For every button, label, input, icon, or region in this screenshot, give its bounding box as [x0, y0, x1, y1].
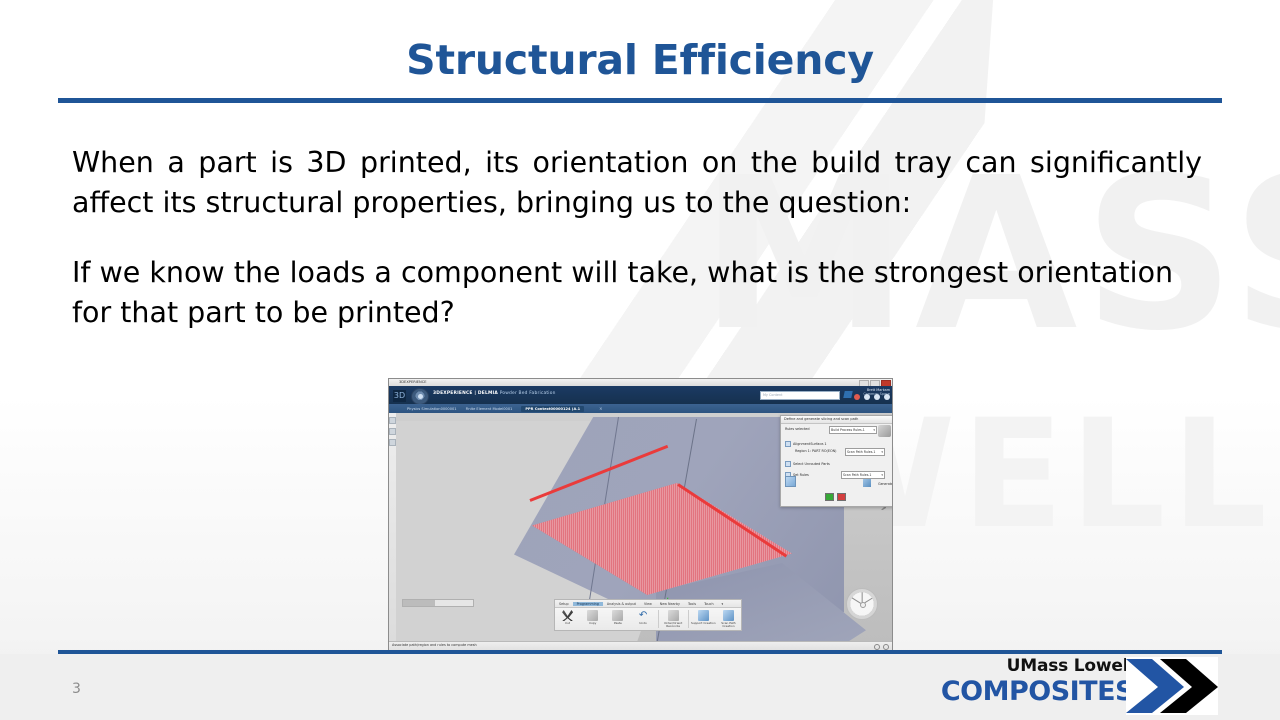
dialog-value-build-process-rules: Build Process Rules.1 — [831, 428, 865, 432]
umass-lowell-chevron-logo — [1126, 657, 1218, 715]
cad-action-dock[interactable]: Setup Programming Analysis & output View… — [554, 599, 742, 631]
slicing-scan-path-dialog[interactable]: Define and generate slicing and scan pat… — [780, 415, 892, 507]
dialog-label-rules-selected: Rules selected — [785, 427, 810, 431]
cad-dock-tools[interactable]: Cut Copy Paste ↶ Undo — [555, 608, 741, 633]
copy-icon — [587, 610, 598, 621]
generate-icon[interactable] — [863, 479, 871, 487]
cad-search-placeholder: My Content — [763, 393, 783, 397]
tool-copy[interactable]: Copy — [580, 610, 605, 625]
page-number: 3 — [72, 681, 81, 697]
dock-tab-analysis-output[interactable]: Analysis & output — [603, 602, 640, 606]
footer-divider — [58, 650, 1222, 654]
undo-icon: ↶ — [638, 610, 649, 621]
tool-support-label: Support Creation — [691, 622, 716, 625]
cad-tab-close-icon[interactable]: × — [599, 406, 602, 411]
cad-brand-app: DELMIA — [478, 391, 498, 396]
dialog-row-rules-selected: Rules selected — [785, 427, 810, 431]
cad-app-icons[interactable] — [854, 394, 890, 400]
cad-brand-sep: | — [474, 391, 476, 396]
tool-paste-label: Paste — [605, 622, 630, 625]
cad-brand-3dx: 3DEXPERIENCE — [433, 391, 473, 396]
dialog-label-region: Region 1: PART RO(EON) — [795, 449, 836, 453]
title-divider — [58, 98, 1222, 103]
cad-status-zoom-controls[interactable] — [874, 644, 889, 650]
embedded-cad-screenshot: 3DEXPERIENCE 3D 3DEXPERIENCE | DELMIA Po… — [388, 378, 893, 652]
compass-icon[interactable] — [411, 388, 429, 405]
plus-icon[interactable] — [864, 394, 870, 400]
tree-tool-icon[interactable] — [389, 417, 396, 424]
dialog-title: Define and generate slicing and scan pat… — [784, 417, 858, 421]
dock-tab-view[interactable]: View — [640, 602, 656, 606]
tool-cut-label: Cut — [555, 622, 580, 625]
alignment-surface-icon[interactable] — [785, 441, 791, 447]
support-icon — [698, 610, 709, 621]
slide-canvas: MASS WELL Structural Efficiency When a p… — [0, 0, 1280, 720]
dialog-select-set-rules[interactable]: Scan Path Rules.1 — [841, 471, 885, 479]
cad-tab-ppr-context[interactable]: PPR Context00000124 (A.1 — [521, 406, 584, 412]
dock-tab-tools[interactable]: Tools — [684, 602, 700, 606]
dock-separator — [658, 610, 659, 628]
dock-tab-programming[interactable]: Programming — [573, 602, 603, 606]
tool-support-creation[interactable]: Support Creation — [691, 610, 716, 625]
dock-separator — [688, 610, 689, 628]
zoom-out-icon[interactable] — [874, 644, 880, 650]
dock-tab-new-nearby[interactable]: New Nearby — [656, 602, 684, 606]
cad-tab-physics-simulation[interactable]: Physics Simulation0000001 — [407, 407, 457, 411]
orient-icon — [668, 610, 679, 621]
cad-app-bar: 3D 3DEXPERIENCE | DELMIA Powder Bed Fabr… — [389, 386, 892, 404]
slide-body: When a part is 3D printed, its orientati… — [72, 143, 1202, 333]
tool-paste[interactable]: Paste — [605, 610, 630, 625]
body-paragraph-2: If we know the loads a component will ta… — [72, 253, 1202, 333]
dialog-select-build-process-rules[interactable]: Build Process Rules.1 — [829, 426, 877, 434]
zoom-in-icon[interactable] — [883, 644, 889, 650]
dialog-ok-button[interactable] — [825, 493, 834, 501]
cad-workspace: PPR Context00000124 A.1 Manufacturing Ce… — [389, 413, 892, 642]
dialog-label-alignment-surface: AlignmentSurface.1 — [793, 442, 827, 446]
cad-tab-finite-element-model[interactable]: Finite Element Model0001 — [466, 407, 513, 411]
alert-badge-icon[interactable] — [854, 394, 860, 400]
dialog-preview-icon[interactable] — [878, 425, 891, 437]
tool-undo-label: Undo — [630, 622, 655, 625]
cad-document-tabs[interactable]: Physics Simulation0000001 Finite Element… — [389, 404, 892, 413]
dock-overflow-chevron-down-icon[interactable]: ▾ — [718, 602, 728, 606]
cad-os-title: 3DEXPERIENCE — [399, 380, 427, 384]
tool-cut[interactable]: Cut — [555, 610, 580, 625]
dialog-value-set-rules: Scan Path Rules.1 — [843, 473, 871, 477]
cad-brand-label: 3DEXPERIENCE | DELMIA Powder Bed Fabrica… — [433, 391, 556, 396]
cad-status-message: Associate path/region and rules to compu… — [392, 643, 477, 647]
footer-org-line1: UMass Lowell — [941, 655, 1134, 677]
dialog-import-icon[interactable] — [785, 476, 796, 487]
dock-tab-touch[interactable]: Touch — [700, 602, 717, 606]
tag-icon[interactable] — [843, 391, 852, 398]
dialog-titlebar: Define and generate slicing and scan pat… — [781, 416, 892, 424]
tool-scan-path-label: Scan Path Creation — [716, 622, 741, 629]
dialog-row-select-unrouted[interactable]: Select Unrouted Parts — [785, 461, 830, 467]
tool-order-orient-label: Order/Orient Reconcile — [661, 622, 686, 629]
body-paragraph-1: When a part is 3D printed, its orientati… — [72, 143, 1202, 223]
view-orientation-compass-icon[interactable] — [846, 588, 878, 620]
paste-icon — [612, 610, 623, 621]
history-tool-icon[interactable] — [389, 439, 396, 446]
scrollbar-thumb[interactable] — [403, 600, 435, 606]
cad-search-input[interactable]: My Content — [760, 391, 840, 400]
cad-brand-module: Powder Bed Fabrication — [500, 391, 556, 396]
help-icon[interactable] — [884, 394, 890, 400]
dialog-generate-label[interactable]: Generate — [878, 482, 892, 486]
dialog-row-alignment-surface: AlignmentSurface.1 — [785, 441, 827, 447]
tool-scan-path-creation[interactable]: Scan Path Creation — [716, 610, 741, 629]
dock-tab-setup[interactable]: Setup — [555, 602, 573, 606]
cad-3d-viewport[interactable]: Build direction Z Define and generate sl… — [396, 413, 892, 642]
footer-org-line2: COMPOSITES — [941, 677, 1134, 707]
tool-undo[interactable]: ↶ Undo — [630, 610, 655, 625]
footer-brand-text: UMass Lowell COMPOSITES — [941, 655, 1134, 707]
scissors-icon — [562, 610, 573, 621]
compass-center-dot — [860, 602, 866, 608]
slide-title: Structural Efficiency — [0, 36, 1280, 84]
viewport-scrollbar[interactable] — [402, 599, 474, 607]
cad-dock-tabs[interactable]: Setup Programming Analysis & output View… — [555, 600, 741, 608]
select-unrouted-icon[interactable] — [785, 461, 791, 467]
dialog-cancel-button[interactable] — [837, 493, 846, 501]
scan-path-icon — [723, 610, 734, 621]
share-icon[interactable] — [874, 394, 880, 400]
filter-tool-icon[interactable] — [389, 428, 396, 435]
dialog-value-region-scan-path-rules: Scan Path Rules.1 — [847, 450, 875, 454]
dialog-label-select-unrouted: Select Unrouted Parts — [793, 462, 830, 466]
dialog-select-region-scan-path-rules[interactable]: Scan Path Rules.1 — [845, 448, 885, 456]
tool-order-orient[interactable]: Order/Orient Reconcile — [661, 610, 686, 629]
dialog-row-region: Region 1: PART RO(EON) — [795, 449, 836, 453]
tool-copy-label: Copy — [580, 622, 605, 625]
threedexperience-logo-icon[interactable]: 3D — [393, 390, 406, 402]
